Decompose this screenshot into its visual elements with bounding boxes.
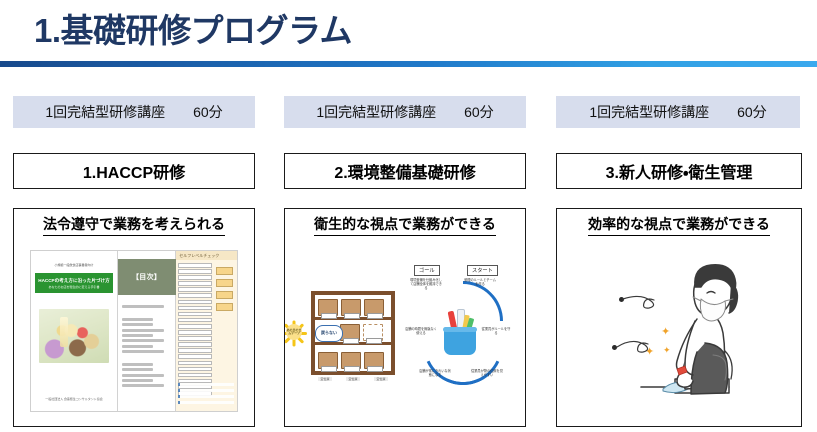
course-title-box-3[interactable]: 3.新人研修・衛生管理 [556, 153, 802, 189]
handbook-eyebrow: 小規模一般飲食店事業者向け [37, 263, 111, 267]
course-title-box-1[interactable]: 1.HACCP研修 [13, 153, 255, 189]
program-column-2: 1回完結型研修講座 60分 2.環境整備基礎研修 衛生的な視点で業務ができる [284, 96, 526, 128]
cycle-goal-description: 環境整備を仕組み化して店舗全体を維持できる [409, 278, 443, 290]
program-column-3: 1回完結型研修講座 60分 3.新人研修・衛生管理 効率的な視点で業務ができる … [556, 96, 798, 128]
shelf-row-top [315, 295, 391, 320]
program-column-1: 1回完結型研修講座 60分 1.HACCP研修 法令遵守で業務を考えられる 小規… [13, 96, 255, 128]
title-accent-rule [0, 61, 817, 67]
speech-bubble: 戻らない [315, 325, 343, 342]
cycle-start-description: 整理のルールとチームを作る [463, 278, 497, 286]
staff-cleaning-thumbnail: ✦ ✦ ✦ [579, 247, 775, 413]
handbook-subhead: あなたのお店を衛生的に変える手引書 [49, 285, 100, 289]
toc-heading-band: 【目次】 [118, 259, 176, 295]
slide-header: 1.基礎研修プログラム [0, 0, 817, 72]
slide-root: 1.基礎研修プログラム 1回完結型研修講座 60分 1.HACCP研修 法令遵守… [0, 0, 817, 432]
shelf-item [340, 324, 360, 341]
course-thumbnail-1: 小規模一般飲食店事業者向け HACCPの考え方に沿った片づけ方 あなたのお店を衛… [14, 241, 254, 424]
course-title-box-2[interactable]: 2.環境整備基礎研修 [284, 153, 526, 189]
course-panel-1: 法令遵守で業務を考えられる 小規模一般飲食店事業者向け HACCPの考え方に沿っ… [13, 208, 255, 427]
shelf-item [341, 352, 361, 369]
course-panel-2: 衛生的な視点で業務ができる あの日のガムテープ [284, 208, 526, 427]
handbook-toc-page: 【目次】 [118, 251, 177, 411]
cycle-goal-label: ゴール [414, 265, 440, 276]
handbook-publisher: 一般社団法人 食품衛生コンサルタント協会 [35, 397, 113, 401]
cleaning-staff-illustration [579, 247, 775, 413]
cleaning-bucket-icon [441, 309, 479, 355]
food-photo [39, 309, 109, 363]
toc-lines [122, 305, 173, 390]
cycle-step: 店舗が常にきれいな状態になる [419, 369, 451, 377]
highlight-burst-icon: あの日のガムテープ [284, 319, 307, 345]
shelf-slot-label: 定位置 [374, 377, 387, 381]
handbook-cover-page: 小規模一般飲食店事業者向け HACCPの考え方に沿った片づけ方 あなたのお店を衛… [31, 251, 118, 411]
cycle-step: 従業員がルールを守る [481, 327, 511, 335]
checklist-header: セルフレベルチェック [176, 251, 237, 260]
page-title: 1.基礎研修プログラム [34, 9, 352, 53]
checklist-score-boxes [216, 267, 233, 315]
shelf-item [364, 352, 384, 369]
cycle-start-label: スタート [467, 265, 498, 276]
burst-label: あの日のガムテープ [286, 329, 302, 336]
cleaning-cycle-diagram: ゴール スタート 環境整備を仕組み化して店舗全体を維持できる 整理のルールとチー… [405, 247, 515, 415]
checklist-heading: セルフレベルチェック [179, 253, 219, 259]
course-thumbnail-2: あの日のガムテープ [285, 241, 525, 424]
handbook-checklist-page: セルフレベルチェック [176, 251, 237, 411]
haccp-handbook-thumbnail: 小規模一般飲食店事業者向け HACCPの考え方に沿った片づけ方 あなたのお店を衛… [30, 250, 238, 412]
shelf-item [318, 299, 338, 316]
shelf-item [318, 352, 338, 369]
shelf-cycle-thumbnail: あの日のガムテープ [293, 247, 515, 415]
course-format-band-3: 1回完結型研修講座 60分 [556, 96, 800, 128]
course-format-band-2: 1回完結型研修講座 60分 [284, 96, 526, 128]
course-outcome-text-3: 効率的な視点で業務ができる [588, 214, 770, 236]
shelf-slot-label: 定位置 [346, 377, 359, 381]
course-format-band-1: 1回完結型研修講座 60分 [13, 96, 255, 128]
course-outcome-1: 法令遵守で業務を考えられる [14, 209, 254, 241]
course-outcome-text-1: 法令遵守で業務を考えられる [43, 214, 225, 236]
shelf-item [341, 299, 361, 316]
speech-bubble-text: 戻らない [321, 331, 337, 336]
shelf-slot-label: 定位置 [318, 377, 331, 381]
shelf-item-empty-slot [363, 324, 383, 341]
program-columns: 1回完結型研修講座 60分 1.HACCP研修 法令遵守で業務を考えられる 小規… [0, 96, 817, 432]
shelf-slot-labels: 定位置 定位置 定位置 [311, 377, 395, 381]
shelf-row-bottom [315, 345, 391, 370]
checklist-notes [178, 383, 234, 407]
course-panel-3: 効率的な視点で業務ができる ✦ ✦ ✦ [556, 208, 802, 427]
course-outcome-3: 効率的な視点で業務ができる [557, 209, 801, 241]
toc-heading: 【目次】 [132, 272, 161, 282]
course-thumbnail-3: ✦ ✦ ✦ [557, 241, 801, 424]
shelf-item [364, 299, 384, 316]
course-outcome-text-2: 衛生的な視点で業務ができる [314, 214, 496, 236]
checklist-table [178, 263, 212, 397]
cycle-step: 店舗の時間を無駄なく使える [405, 327, 437, 335]
cycle-step: 従業員が物の位置を覚えやすい [471, 369, 503, 377]
handbook-title-band: HACCPの考え方に沿った片づけ方 あなたのお店を衛生的に変える手引書 [35, 273, 113, 293]
handbook-headline: HACCPの考え方に沿った片づけ方 [38, 278, 109, 284]
course-outcome-2: 衛生的な視点で業務ができる [285, 209, 525, 241]
